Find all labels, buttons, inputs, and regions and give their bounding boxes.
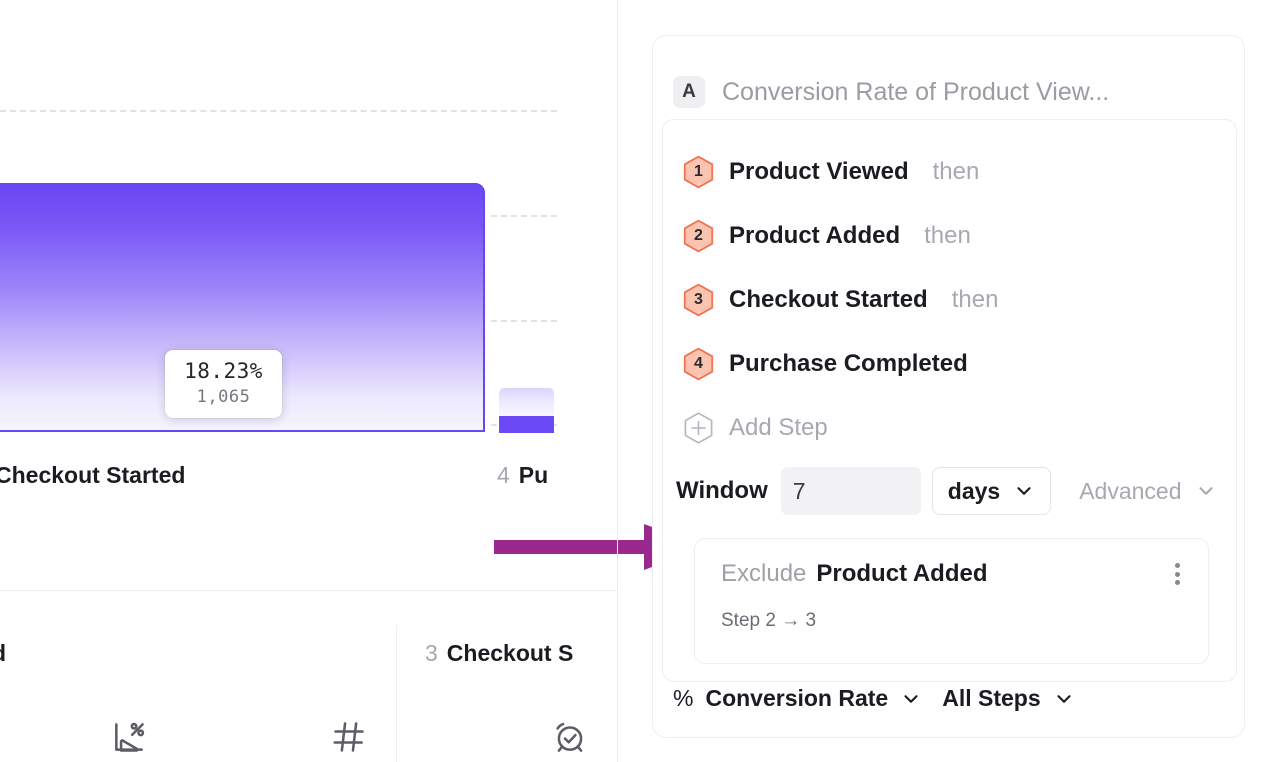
step-row-4[interactable]: 4 Purchase Completed	[663, 332, 1236, 396]
funnel-builder-card: A Conversion Rate of Product View... 1 P…	[652, 35, 1245, 738]
step-hexagon-icon: 1	[683, 155, 714, 189]
step-number: 1	[694, 164, 703, 180]
exclude-step-range: Step 2 → 3	[721, 610, 1208, 632]
steps-card: 1 Product Viewed then 2 Product Added th…	[662, 119, 1237, 682]
step-connector: then	[952, 286, 999, 314]
chevron-down-icon	[1053, 688, 1075, 710]
x-axis-step-name: Pu	[519, 462, 548, 488]
chevron-down-icon	[1195, 480, 1217, 502]
add-step-label: Add Step	[729, 414, 828, 442]
chart-gridline	[0, 110, 557, 112]
funnel-bar-base-purchase-completed[interactable]	[499, 416, 554, 433]
step-number: 3	[694, 292, 703, 308]
step-row-2[interactable]: 2 Product Added then	[663, 204, 1236, 268]
lower-panel-b-title: 3Checkout S	[425, 640, 573, 667]
funnel-chart-region: 18.23% 1,065 Checkout Started 4Pu d 3Che…	[0, 0, 617, 762]
step-row-1[interactable]: 1 Product Viewed then	[663, 140, 1236, 204]
metric-select[interactable]: Conversion Rate	[705, 685, 922, 712]
exclude-title-row: Exclude Product Added	[721, 560, 1208, 588]
step-event-name: Product Viewed	[729, 158, 909, 186]
step-number: 4	[694, 356, 703, 372]
step-row-3[interactable]: 3 Checkout Started then	[663, 268, 1236, 332]
more-options-icon[interactable]	[1164, 559, 1190, 589]
tooltip-count: 1,065	[173, 387, 274, 407]
window-value-input[interactable]	[781, 467, 921, 515]
lower-section-divider	[0, 590, 617, 591]
exclude-step-card[interactable]: Exclude Product Added Step 2 → 3	[694, 538, 1209, 664]
step-connector: then	[924, 222, 971, 250]
step-connector: then	[933, 158, 980, 186]
dot	[1175, 580, 1180, 585]
scope-select[interactable]: All Steps	[942, 685, 1074, 712]
add-step-button[interactable]: Add Step	[663, 398, 1236, 458]
window-unit-select[interactable]: days	[932, 467, 1051, 515]
lower-panel-a-title: d	[0, 640, 6, 667]
chart-tooltip: 18.23% 1,065	[165, 350, 282, 418]
x-axis-label-checkout-started: Checkout Started	[0, 462, 185, 489]
advanced-label: Advanced	[1079, 478, 1181, 505]
window-row: Window days Advanced	[663, 460, 1236, 522]
dot	[1175, 563, 1180, 568]
funnel-bar-purchase-completed[interactable]	[499, 388, 554, 416]
chevron-down-icon	[1013, 480, 1035, 502]
x-axis-step-name: Checkout Started	[0, 462, 185, 488]
scope-label: All Steps	[942, 685, 1040, 712]
exclude-prefix-label: Exclude	[721, 560, 806, 588]
percent-icon: %	[673, 685, 693, 712]
step-hexagon-icon: 3	[683, 283, 714, 317]
x-axis-step-index: 4	[497, 462, 510, 488]
alarm-check-icon[interactable]	[551, 718, 589, 761]
plus-circle-icon	[683, 411, 714, 445]
lower-panel-vertical-divider	[396, 625, 397, 762]
chart-percent-icon[interactable]	[110, 718, 148, 761]
dot	[1175, 572, 1180, 577]
query-title[interactable]: Conversion Rate of Product View...	[722, 78, 1109, 107]
step-event-name: Checkout Started	[729, 286, 928, 314]
step-hexagon-icon: 4	[683, 347, 714, 381]
x-axis-label-purchase-completed: 4Pu	[497, 462, 548, 489]
advanced-toggle[interactable]: Advanced	[1079, 478, 1216, 505]
builder-footer: % Conversion Rate All Steps	[673, 685, 1075, 712]
window-label: Window	[676, 477, 768, 505]
query-letter-badge[interactable]: A	[673, 76, 705, 108]
chevron-down-icon	[900, 688, 922, 710]
exclude-event-name: Product Added	[816, 560, 987, 588]
hash-icon[interactable]	[330, 718, 368, 761]
step-number: 2	[694, 228, 703, 244]
lower-panel-b-name: Checkout S	[447, 640, 574, 666]
step-hexagon-icon: 2	[683, 219, 714, 253]
panel-divider	[617, 0, 618, 762]
lower-panel-b-index: 3	[425, 640, 438, 666]
builder-header: A Conversion Rate of Product View...	[653, 36, 1244, 122]
window-unit-label: days	[948, 478, 1000, 505]
metric-label: Conversion Rate	[705, 685, 888, 712]
tooltip-percent: 18.23%	[173, 359, 274, 383]
step-event-name: Purchase Completed	[729, 350, 968, 378]
step-event-name: Product Added	[729, 222, 900, 250]
